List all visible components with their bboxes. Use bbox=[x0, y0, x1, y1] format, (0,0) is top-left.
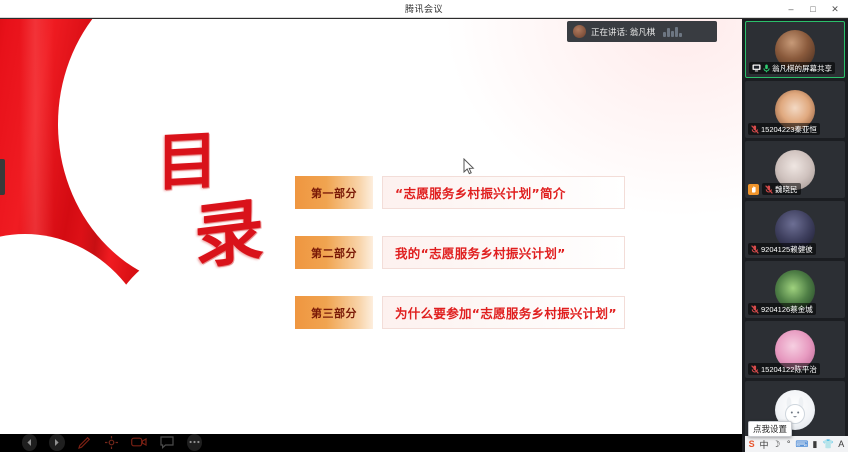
microphone-muted-icon bbox=[751, 365, 759, 374]
participant-label: 15204223秦亚恒 bbox=[748, 123, 820, 135]
ime-moon-icon[interactable]: ☽ bbox=[772, 438, 781, 451]
laser-pointer-icon[interactable] bbox=[104, 434, 119, 451]
agenda-badge-label: 第二部分 bbox=[311, 245, 357, 261]
microphone-muted-icon bbox=[751, 305, 759, 314]
agenda-body-label: 为什么要参加“志愿服务乡村振兴计划” bbox=[395, 303, 617, 322]
ime-keyboard-icon[interactable]: ⌨ bbox=[796, 438, 807, 451]
settings-tooltip[interactable]: 点我设置 bbox=[748, 421, 792, 437]
participant-name: 9204125赖健彼 bbox=[761, 244, 813, 255]
presentation-slide: 目 录 第一部分 “志愿服务乡村振兴计划”简介 第二部分 bbox=[0, 19, 742, 434]
ime-language-chinese-icon[interactable]: 中 bbox=[759, 438, 768, 451]
video-toggle-icon[interactable] bbox=[131, 434, 147, 451]
participant-label: 9204125赖健彼 bbox=[748, 243, 816, 255]
participant-name: 翁凡棋的屏幕共享 bbox=[772, 63, 832, 74]
active-speaker-avatar bbox=[573, 25, 586, 38]
minimize-button[interactable]: – bbox=[780, 0, 802, 18]
agenda-badge: 第二部分 bbox=[295, 236, 373, 269]
more-options-icon[interactable] bbox=[187, 434, 202, 451]
participant-label: 9204126蔡金城 bbox=[748, 303, 816, 315]
ime-degree-icon[interactable]: ° bbox=[784, 438, 793, 451]
next-slide-icon[interactable] bbox=[49, 434, 64, 451]
participant-tile[interactable]: 魏晓民 bbox=[745, 141, 845, 198]
window-title: 腾讯会议 bbox=[405, 2, 443, 15]
microphone-on-icon bbox=[763, 64, 770, 73]
window-controls: – □ ✕ bbox=[780, 0, 846, 18]
agenda-body: 为什么要参加“志愿服务乡村振兴计划” bbox=[382, 296, 625, 329]
microphone-muted-icon bbox=[765, 185, 773, 194]
slide-title-calligraphy: 目 录 bbox=[152, 131, 282, 296]
participant-tile[interactable]: 翁凡棋的屏幕共享 bbox=[745, 21, 845, 78]
active-speaker-label: 正在讲话: 翁凡棋 bbox=[591, 26, 655, 38]
agenda-row: 第一部分 “志愿服务乡村振兴计划”简介 bbox=[295, 176, 625, 209]
screen-share-icon bbox=[752, 64, 761, 72]
participant-tile[interactable]: 15204122陈平治 bbox=[745, 321, 845, 378]
participant-label: 魏晓民 bbox=[762, 183, 801, 195]
agenda-badge: 第一部分 bbox=[295, 176, 373, 209]
ime-taskbar[interactable]: S 中 ☽ ° ⌨ ▮ 👕 A bbox=[745, 436, 848, 452]
microphone-muted-icon bbox=[751, 125, 759, 134]
title-char-2: 录 bbox=[193, 195, 265, 274]
ime-menu-icon[interactable]: A bbox=[837, 438, 846, 451]
microphone-muted-icon bbox=[751, 245, 759, 254]
participant-name: 15204223秦亚恒 bbox=[761, 124, 817, 135]
agenda-badge-label: 第三部分 bbox=[311, 305, 357, 321]
agenda-body: 我的“志愿服务乡村振兴计划” bbox=[382, 236, 625, 269]
participant-tile[interactable]: 15204223秦亚恒 bbox=[745, 81, 845, 138]
participant-name: 15204122陈平治 bbox=[761, 364, 817, 375]
audio-waveform-icon bbox=[663, 27, 682, 37]
participant-tile[interactable]: 9204125赖健彼 bbox=[745, 201, 845, 258]
ime-skin-icon[interactable]: 👕 bbox=[823, 438, 834, 451]
raise-hand-icon bbox=[748, 184, 759, 195]
participant-name: 魏晓民 bbox=[775, 184, 798, 195]
title-char-1: 目 bbox=[156, 129, 218, 194]
participant-tile[interactable]: 9204126蔡金城 bbox=[745, 261, 845, 318]
maximize-button[interactable]: □ bbox=[802, 0, 824, 18]
participant-rail[interactable]: 翁凡棋的屏幕共享 15204223秦亚恒 bbox=[742, 19, 848, 452]
agenda-list: 第一部分 “志愿服务乡村振兴计划”简介 第二部分 我的“志愿服务乡村振兴计划” bbox=[295, 176, 625, 356]
screen-edge-tab-handle[interactable] bbox=[0, 159, 5, 195]
close-button[interactable]: ✕ bbox=[824, 0, 846, 18]
agenda-row: 第三部分 为什么要参加“志愿服务乡村振兴计划” bbox=[295, 296, 625, 329]
participant-label: 翁凡棋的屏幕共享 bbox=[749, 62, 835, 74]
sogou-ime-logo-icon[interactable]: S bbox=[747, 438, 756, 451]
annotate-pen-icon[interactable] bbox=[77, 434, 92, 451]
agenda-body-label: 我的“志愿服务乡村振兴计划” bbox=[395, 243, 566, 262]
participant-name: 9204126蔡金城 bbox=[761, 304, 813, 315]
tencent-meeting-window: 腾讯会议 – □ ✕ 目 录 bbox=[0, 0, 848, 452]
prev-slide-icon[interactable] bbox=[22, 434, 37, 451]
active-speaker-banner: 正在讲话: 翁凡棋 bbox=[567, 21, 717, 42]
title-bar: 腾讯会议 – □ ✕ bbox=[0, 0, 848, 18]
ime-panel-icon[interactable]: ▮ bbox=[810, 438, 819, 451]
agenda-body-label: “志愿服务乡村振兴计划”简介 bbox=[395, 183, 566, 202]
agenda-badge-label: 第一部分 bbox=[311, 185, 357, 201]
participant-label: 15204122陈平治 bbox=[748, 363, 820, 375]
shared-screen-stage[interactable]: 目 录 第一部分 “志愿服务乡村振兴计划”简介 第二部分 bbox=[0, 19, 742, 452]
chat-icon[interactable] bbox=[159, 434, 174, 451]
presenter-toolbar[interactable] bbox=[22, 430, 202, 452]
agenda-badge: 第三部分 bbox=[295, 296, 373, 329]
agenda-body: “志愿服务乡村振兴计划”简介 bbox=[382, 176, 625, 209]
agenda-row: 第二部分 我的“志愿服务乡村振兴计划” bbox=[295, 236, 625, 269]
